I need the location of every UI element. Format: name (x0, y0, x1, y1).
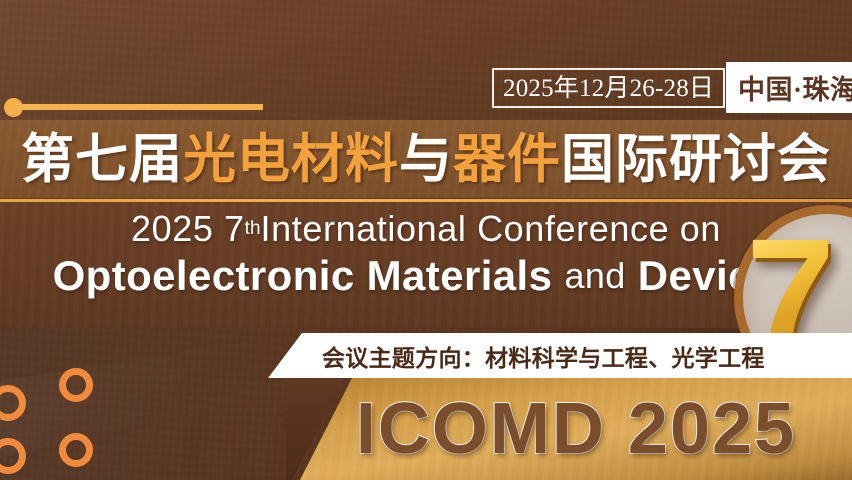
chinese-title-seg-1: 第七届 (21, 134, 183, 187)
orange-rule-decoration (16, 104, 263, 110)
chinese-title-seg-3: 与 (399, 134, 453, 187)
ring-icon-3 (59, 368, 93, 402)
theme-banner-text: 会议主题方向：材料科学与工程、光学工程 (322, 339, 765, 373)
conference-location-box: 中国·珠海 (726, 62, 852, 113)
english-title-year-ordinal: 2025 7 (131, 208, 245, 250)
english-title-line-2: Optoelectronic Materials and Devices (0, 250, 852, 302)
ordinal-suffix: th (245, 218, 261, 240)
english-title-conjunction: and (564, 255, 625, 297)
english-title-line-1-rest: International Conference on (261, 208, 722, 250)
chinese-title: 第七届光电材料与器件国际研讨会 (0, 127, 852, 193)
acronym-container: ICOMD 2025 (300, 378, 852, 480)
conference-location-text: 中国·珠海 (738, 68, 852, 107)
chinese-title-seg-4: 器件 (453, 134, 561, 187)
chinese-title-seg-2: 光电材料 (183, 134, 399, 187)
conference-poster: 2025年12月26-28日 中国·珠海 第七届光电材料与器件国际研讨会 202… (0, 0, 852, 480)
acronym-text: ICOMD 2025 (356, 393, 796, 465)
english-title-line-1: 2025 7th International Conference on (0, 207, 852, 251)
conference-date-box: 2025年12月26-28日 (492, 68, 725, 108)
conference-date-text: 2025年12月26-28日 (503, 76, 714, 101)
chinese-title-seg-5: 国际研讨会 (561, 134, 831, 187)
ring-icon-4 (59, 433, 93, 467)
theme-banner: 会议主题方向：材料科学与工程、光学工程 (268, 333, 852, 378)
english-title-subject: Optoelectronic Materials (53, 252, 553, 300)
